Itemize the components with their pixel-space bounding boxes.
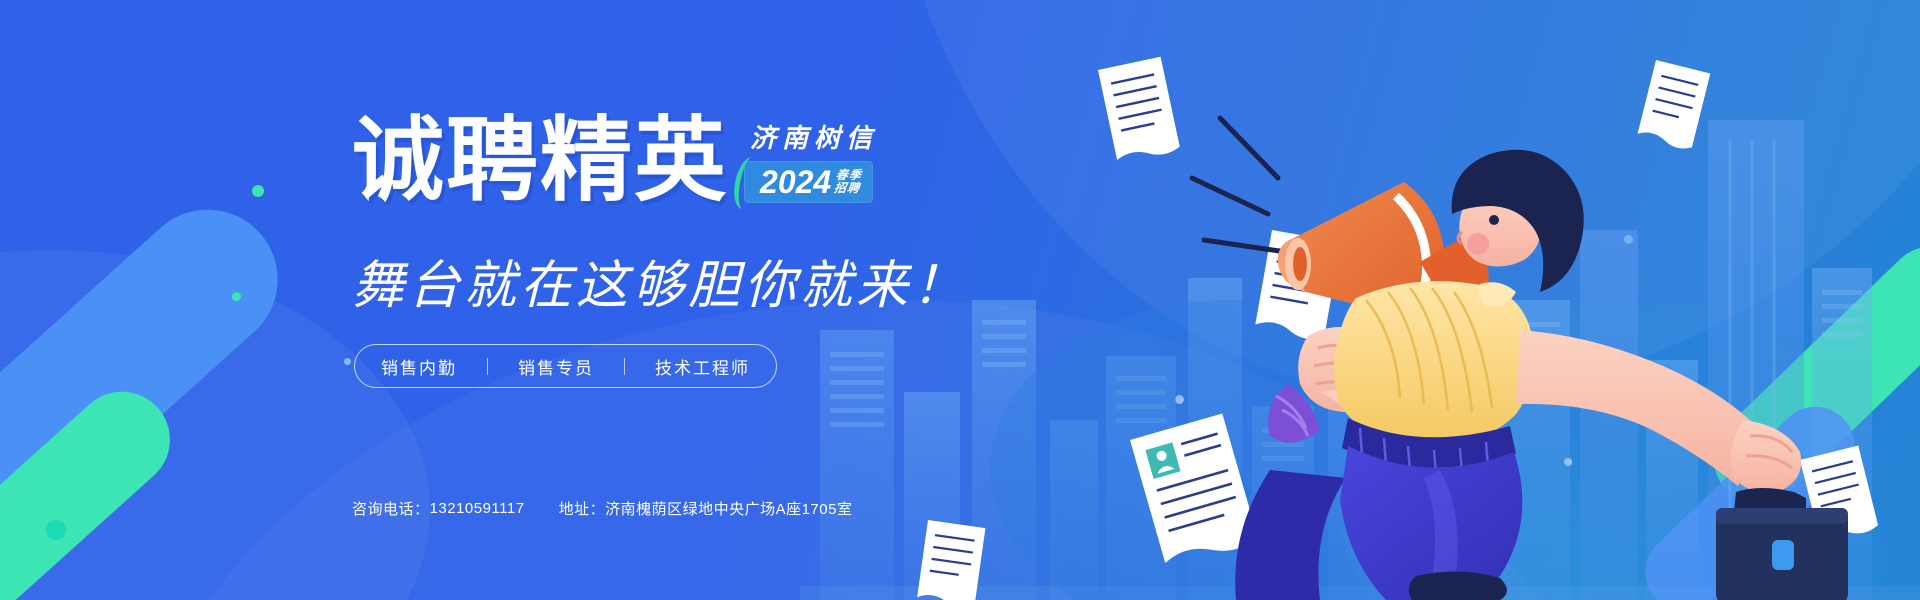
address-label: 地址：	[559, 498, 606, 519]
briefcase-latch	[1772, 540, 1794, 570]
badge-season: 春季 招聘	[833, 169, 863, 195]
resume-paper-1	[1098, 57, 1181, 164]
recruitment-banner: 诚聘精英 济南树信 2024 春季 招聘 舞台就在这够胆你就来！ 销售内勤 销售…	[0, 0, 1920, 600]
resume-paper-6	[1637, 60, 1711, 151]
shirt	[1334, 281, 1534, 444]
headline-row: 诚聘精英 济南树信 2024 春季 招聘	[352, 115, 878, 207]
decorative-dot-3	[344, 358, 351, 365]
badge-column: 济南树信 2024 春季 招聘	[744, 118, 878, 203]
cheek-blush	[1467, 233, 1489, 255]
position-item-1[interactable]: 销售内勤	[381, 354, 457, 379]
badge-year: 2024	[760, 166, 831, 198]
positions-pill: 销售内勤 销售专员 技术工程师	[354, 344, 777, 388]
decorative-dot-1	[252, 185, 264, 197]
eye	[1489, 215, 1499, 225]
company-name: 济南树信	[750, 118, 878, 155]
decorative-bar-teal-left	[0, 372, 190, 600]
recruitment-badge: 2024 春季 招聘	[744, 161, 873, 203]
phone-value[interactable]: 13210591117	[430, 500, 525, 517]
badge-season-line-2: 招聘	[833, 182, 861, 195]
decorative-dot-4	[46, 520, 66, 540]
contact-info: 咨询电话： 13210591117 地址： 济南槐荫区绿地中央广场A座1705室	[352, 498, 852, 519]
position-item-2[interactable]: 销售专员	[518, 354, 594, 379]
decorative-bar-blue-left	[0, 181, 306, 600]
decorative-dot-2	[232, 292, 241, 301]
position-item-3[interactable]: 技术工程师	[655, 354, 750, 379]
address-value: 济南槐荫区绿地中央广场A座1705室	[605, 498, 852, 519]
position-separator-1	[487, 358, 488, 375]
page-subtitle: 舞台就在这够胆你就来！	[352, 243, 968, 318]
page-title: 诚聘精英	[352, 115, 728, 207]
banner-copy: 诚聘精英 济南树信 2024 春季 招聘 舞台就在这够胆你就来！ 销售内勤 销售…	[352, 0, 972, 600]
position-separator-2	[624, 358, 625, 375]
phone-label: 咨询电话：	[352, 498, 430, 519]
